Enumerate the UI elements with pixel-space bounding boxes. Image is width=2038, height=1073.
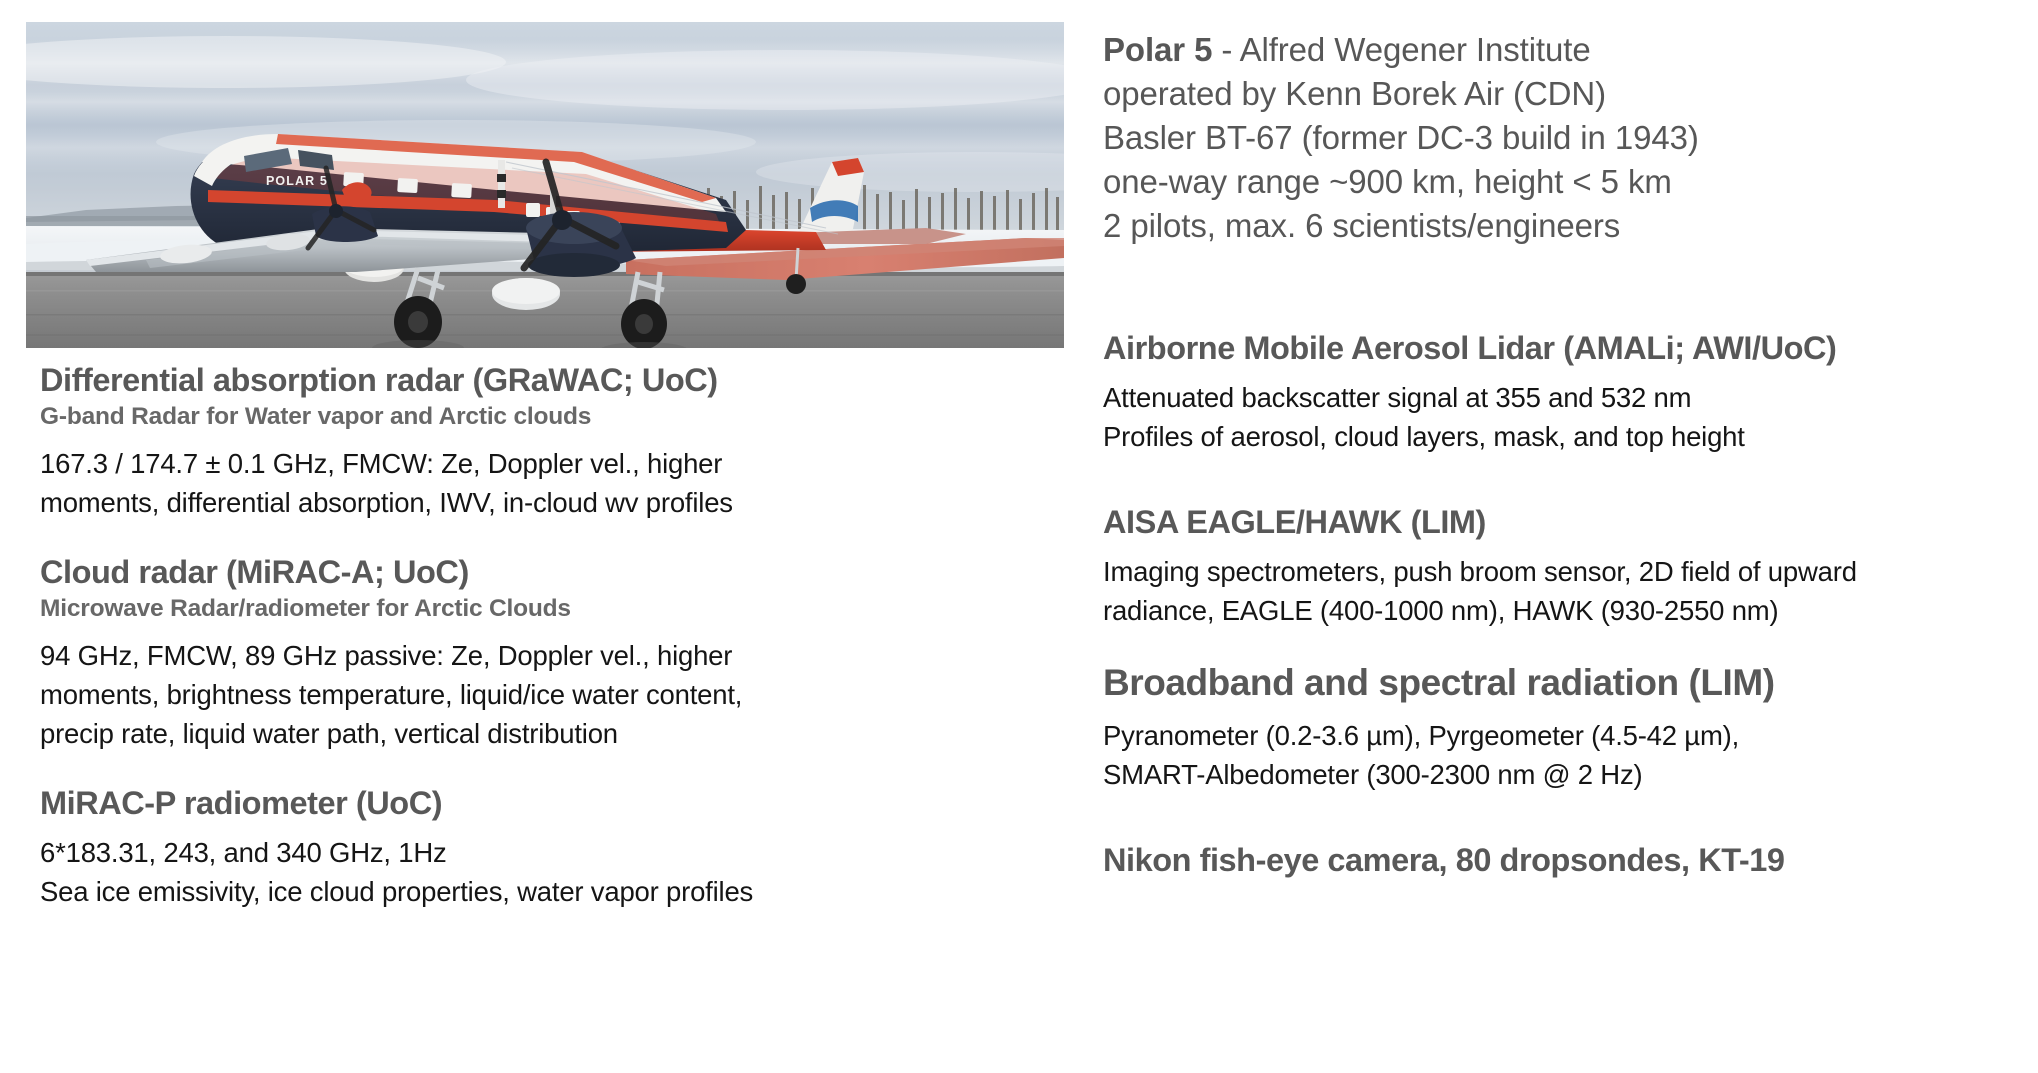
left-column: Differential absorption radar (GRaWAC; U… xyxy=(40,360,1050,911)
spacer xyxy=(40,823,1050,833)
intro-line-1-rest: - Alfred Wegener Institute xyxy=(1212,31,1590,68)
instrument-subheading-grawac: G-band Radar for Water vapor and Arctic … xyxy=(40,400,1050,434)
instrument-heading-aisa: AISA EAGLE/HAWK (LIM) xyxy=(1103,502,2023,542)
spacer xyxy=(40,522,1050,552)
spacer xyxy=(40,626,1050,636)
spacer xyxy=(1103,368,2023,378)
body-line: Profiles of aerosol, cloud layers, mask,… xyxy=(1103,417,2023,456)
intro-line-2: operated by Kenn Borek Air (CDN) xyxy=(1103,72,2023,116)
instrument-heading-grawac: Differential absorption radar (GRaWAC; U… xyxy=(40,360,1050,400)
intro-line-5: 2 pilots, max. 6 scientists/engineers xyxy=(1103,204,2023,248)
instrument-body-mirac-a: 94 GHz, FMCW, 89 GHz passive: Ze, Dopple… xyxy=(40,636,1050,753)
spacer xyxy=(1103,456,2023,502)
spacer xyxy=(1103,542,2023,552)
body-line: Pyranometer (0.2-3.6 µm), Pyrgeometer (4… xyxy=(1103,716,2023,755)
instrument-subheading-mirac-a: Microwave Radar/radiometer for Arctic Cl… xyxy=(40,592,1050,626)
instrument-block-broadband: Broadband and spectral radiation (LIM) P… xyxy=(1103,660,2023,794)
spacer xyxy=(1103,706,2023,716)
body-line: SMART-Albedometer (300-2300 nm @ 2 Hz) xyxy=(1103,755,2023,794)
intro-line-1: Polar 5 - Alfred Wegener Institute xyxy=(1103,28,2023,72)
body-line: moments, brightness temperature, liquid/… xyxy=(40,675,1050,714)
body-line: moments, differential absorption, IWV, i… xyxy=(40,483,1050,522)
spacer xyxy=(40,434,1050,444)
instrument-block-grawac: Differential absorption radar (GRaWAC; U… xyxy=(40,360,1050,522)
intro-line-1-bold: Polar 5 xyxy=(1103,31,1212,68)
slide-root: POLAR 5 xyxy=(0,0,2038,1073)
aircraft-photo-graphic: POLAR 5 xyxy=(26,22,1064,348)
spacer xyxy=(1103,630,2023,660)
instrument-heading-mirac-p: MiRAC-P radiometer (UoC) xyxy=(40,783,1050,823)
body-line: precip rate, liquid water path, vertical… xyxy=(40,714,1050,753)
spacer xyxy=(40,753,1050,783)
spacer xyxy=(1103,794,2023,840)
body-line: Imaging spectrometers, push broom sensor… xyxy=(1103,552,2023,591)
instrument-body-broadband: Pyranometer (0.2-3.6 µm), Pyrgeometer (4… xyxy=(1103,716,2023,794)
instrument-body-grawac: 167.3 / 174.7 ± 0.1 GHz, FMCW: Ze, Doppl… xyxy=(40,444,1050,522)
body-line: 167.3 / 174.7 ± 0.1 GHz, FMCW: Ze, Doppl… xyxy=(40,444,1050,483)
right-column-spacer xyxy=(1103,248,2023,328)
right-column: Polar 5 - Alfred Wegener Institute opera… xyxy=(1103,28,2023,880)
instrument-block-mirac-p: MiRAC-P radiometer (UoC) 6*183.31, 243, … xyxy=(40,783,1050,911)
body-line: 94 GHz, FMCW, 89 GHz passive: Ze, Dopple… xyxy=(40,636,1050,675)
body-line: Attenuated backscatter signal at 355 and… xyxy=(1103,378,2023,417)
intro-line-4: one-way range ~900 km, height < 5 km xyxy=(1103,160,2023,204)
instrument-heading-misc-sensors: Nikon fish-eye camera, 80 dropsondes, KT… xyxy=(1103,840,2023,880)
body-line: Sea ice emissivity, ice cloud properties… xyxy=(40,872,1050,911)
body-line: radiance, EAGLE (400-1000 nm), HAWK (930… xyxy=(1103,591,2023,630)
fuselage-marking-text: POLAR 5 xyxy=(266,174,328,188)
polar-5-aircraft-photo: POLAR 5 xyxy=(26,22,1064,348)
instrument-block-mirac-a: Cloud radar (MiRAC-A; UoC) Microwave Rad… xyxy=(40,552,1050,753)
instrument-block-amali: Airborne Mobile Aerosol Lidar (AMALi; AW… xyxy=(1103,328,2023,456)
body-line: 6*183.31, 243, and 340 GHz, 1Hz xyxy=(40,833,1050,872)
aircraft-intro-block: Polar 5 - Alfred Wegener Institute opera… xyxy=(1103,28,2023,248)
instrument-body-aisa: Imaging spectrometers, push broom sensor… xyxy=(1103,552,2023,630)
instrument-heading-broadband: Broadband and spectral radiation (LIM) xyxy=(1103,660,2023,706)
intro-line-3: Basler BT-67 (former DC-3 build in 1943) xyxy=(1103,116,2023,160)
instrument-body-amali: Attenuated backscatter signal at 355 and… xyxy=(1103,378,2023,456)
instrument-heading-mirac-a: Cloud radar (MiRAC-A; UoC) xyxy=(40,552,1050,592)
instrument-body-mirac-p: 6*183.31, 243, and 340 GHz, 1Hz Sea ice … xyxy=(40,833,1050,911)
instrument-heading-amali: Airborne Mobile Aerosol Lidar (AMALi; AW… xyxy=(1103,328,2023,368)
instrument-block-aisa: AISA EAGLE/HAWK (LIM) Imaging spectromet… xyxy=(1103,502,2023,630)
